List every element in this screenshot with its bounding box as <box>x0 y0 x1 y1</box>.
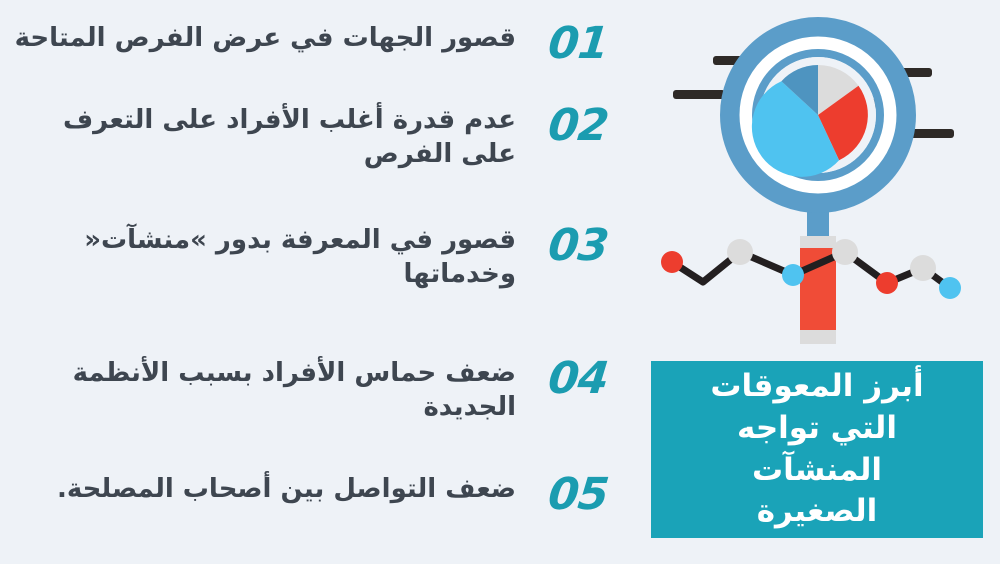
line-chart-point <box>782 264 804 286</box>
list-item-label: ضعف حماس الأفراد بسبب الأنظمة الجديدة <box>0 357 526 425</box>
list-item-number: 01 <box>524 22 633 67</box>
title-card: أبرز المعوقات التي تواجه المنشآت الصغيرة <box>651 361 983 538</box>
magnifier-handle-cap-bottom <box>800 330 836 344</box>
list-item-label: ضعف التواصل بين أصحاب المصلحة. <box>0 473 526 507</box>
list-item: 04 ضعف حماس الأفراد بسبب الأنظمة الجديدة <box>0 357 630 425</box>
list-item-number: 05 <box>524 473 633 518</box>
list-item: 01 قصور الجهات في عرض الفرص المتاحة <box>0 22 630 67</box>
list-item: 03 قصور في المعرفة بدور »منشآت« وخدماتها <box>0 224 630 292</box>
list-item-number: 04 <box>524 357 633 402</box>
list-item-label: عدم قدرة أغلب الأفراد على التعرف على الف… <box>0 104 526 172</box>
line-chart-point <box>939 277 961 299</box>
obstacles-list: 01 قصور الجهات في عرض الفرص المتاحة 02 ع… <box>0 0 630 564</box>
magnifier-handle-cap-top <box>800 236 836 250</box>
line-chart-point <box>910 255 936 281</box>
list-item-label: قصور الجهات في عرض الفرص المتاحة <box>0 22 526 56</box>
list-item-number: 02 <box>524 104 633 149</box>
line-chart-point <box>661 251 683 273</box>
list-item: 05 ضعف التواصل بين أصحاب المصلحة. <box>0 473 630 518</box>
list-item-label: قصور في المعرفة بدور »منشآت« وخدماتها <box>0 224 526 292</box>
list-item: 02 عدم قدرة أغلب الأفراد على التعرف على … <box>0 104 630 172</box>
line-chart-point <box>727 239 753 265</box>
line-chart-point <box>832 239 858 265</box>
line-chart-point <box>876 272 898 294</box>
list-item-number: 03 <box>524 224 633 269</box>
dash-icon <box>673 90 725 99</box>
infographic-canvas: 01 قصور الجهات في عرض الفرص المتاحة 02 ع… <box>0 0 1000 564</box>
magnifying-glass-illustration <box>655 10 1000 360</box>
page-title: أبرز المعوقات التي تواجه المنشآت الصغيرة <box>669 366 965 532</box>
